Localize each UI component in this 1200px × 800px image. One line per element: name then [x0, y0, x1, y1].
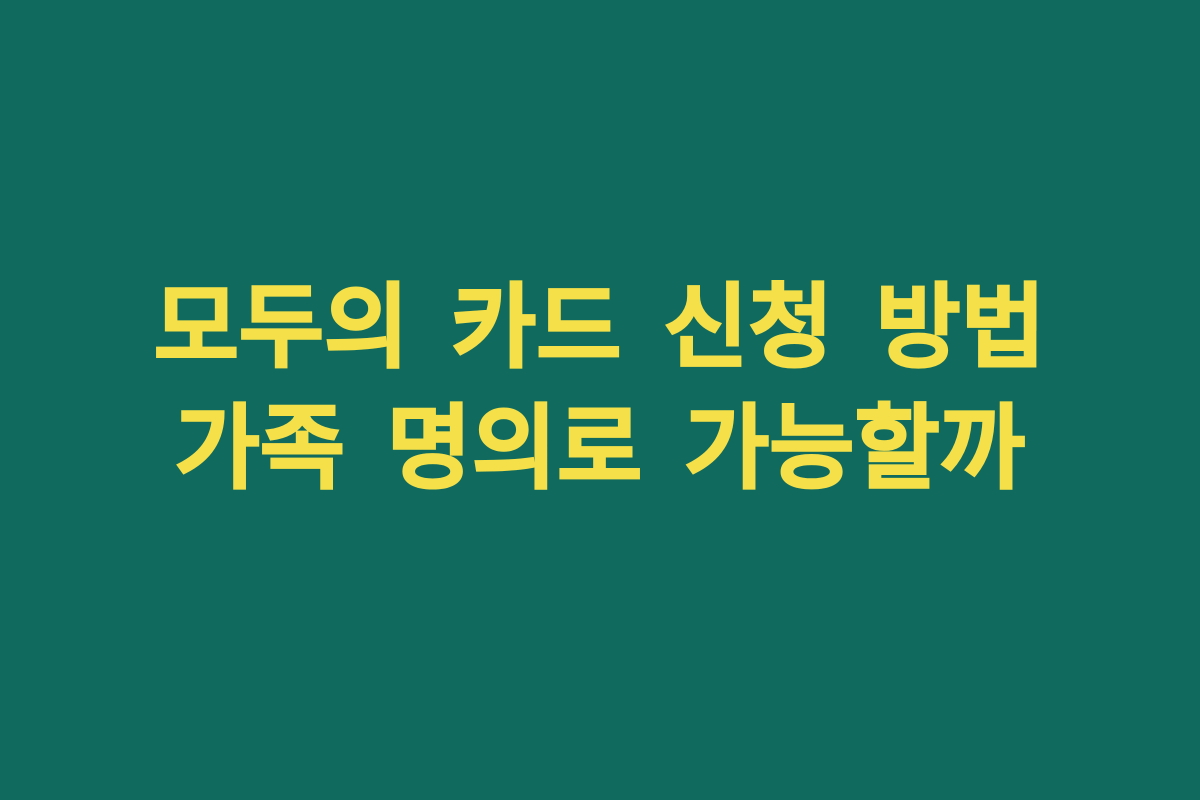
headline-line-1: 모두의 카드 신청 방법: [0, 267, 1200, 388]
banner-canvas: 모두의 카드 신청 방법 가족 명의로 가능할까: [0, 0, 1200, 800]
headline-block: 모두의 카드 신청 방법 가족 명의로 가능할까: [0, 267, 1200, 510]
headline-line-2: 가족 명의로 가능할까: [0, 388, 1200, 509]
